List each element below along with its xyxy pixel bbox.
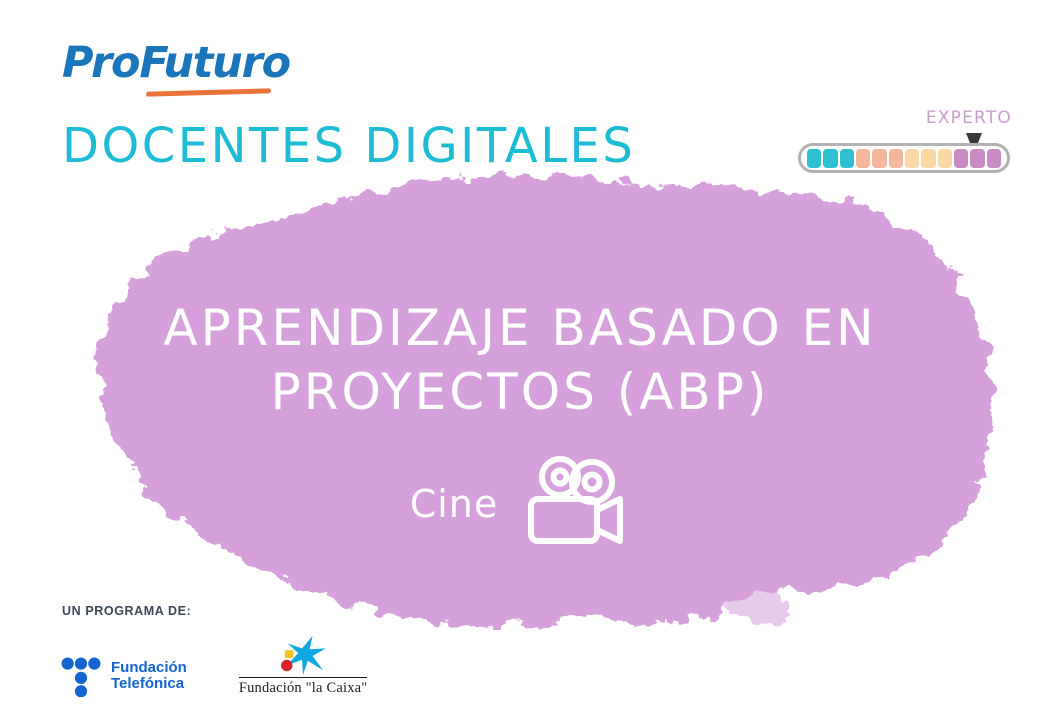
- fundacion-telefonica-logo: Fundación Telefónica: [60, 655, 187, 697]
- fundacion-la-caixa-logo: Fundación "la Caixa": [239, 634, 368, 697]
- level-progress-meter: EXPERTO: [796, 108, 1016, 178]
- meter-segment: [905, 149, 919, 168]
- meter-segment: [921, 149, 935, 168]
- meter-segment: [889, 149, 903, 168]
- meter-segment: [872, 149, 886, 168]
- la-caixa-wordmark: Fundación "la Caixa": [239, 677, 368, 697]
- hero-title-line-1: APRENDIZAJE BASADO EN: [0, 296, 1040, 360]
- movie-camera-icon: [522, 452, 630, 548]
- profuturo-wordmark: ProFuturo: [62, 42, 302, 85]
- meter-segment: [823, 149, 837, 168]
- hero-subtitle-row: Cine: [0, 452, 1040, 548]
- telefonica-wordmark-line-2: Telefónica: [111, 676, 187, 692]
- la-caixa-star-icon: [273, 634, 333, 676]
- profuturo-underline-stroke: [146, 88, 271, 96]
- level-meter-track: [798, 143, 1010, 173]
- slide-canvas: ProFuturo DOCENTES DIGITALES EXPERTO: [0, 0, 1040, 720]
- sponsor-logos: Fundación Telefónica Fundación "la Caixa…: [60, 634, 367, 697]
- meter-segment: [987, 149, 1001, 168]
- telefonica-wordmark: Fundación Telefónica: [111, 660, 187, 692]
- hero-title: APRENDIZAJE BASADO EN PROYECTOS (ABP): [0, 296, 1040, 424]
- telefonica-dots-icon: [60, 655, 102, 697]
- meter-segment: [840, 149, 854, 168]
- meter-segment: [954, 149, 968, 168]
- program-label: UN PROGRAMA DE:: [62, 604, 191, 618]
- meter-segment: [807, 149, 821, 168]
- telefonica-wordmark-line-1: Fundación: [111, 660, 187, 676]
- hero-title-line-2: PROYECTOS (ABP): [0, 360, 1040, 424]
- page-title: DOCENTES DIGITALES: [62, 122, 635, 170]
- meter-segment: [970, 149, 984, 168]
- meter-segment: [938, 149, 952, 168]
- meter-segment: [856, 149, 870, 168]
- hero-subtitle: Cine: [410, 485, 499, 523]
- profuturo-logo: ProFuturo: [62, 42, 302, 108]
- level-badge-label: EXPERTO: [926, 108, 1012, 128]
